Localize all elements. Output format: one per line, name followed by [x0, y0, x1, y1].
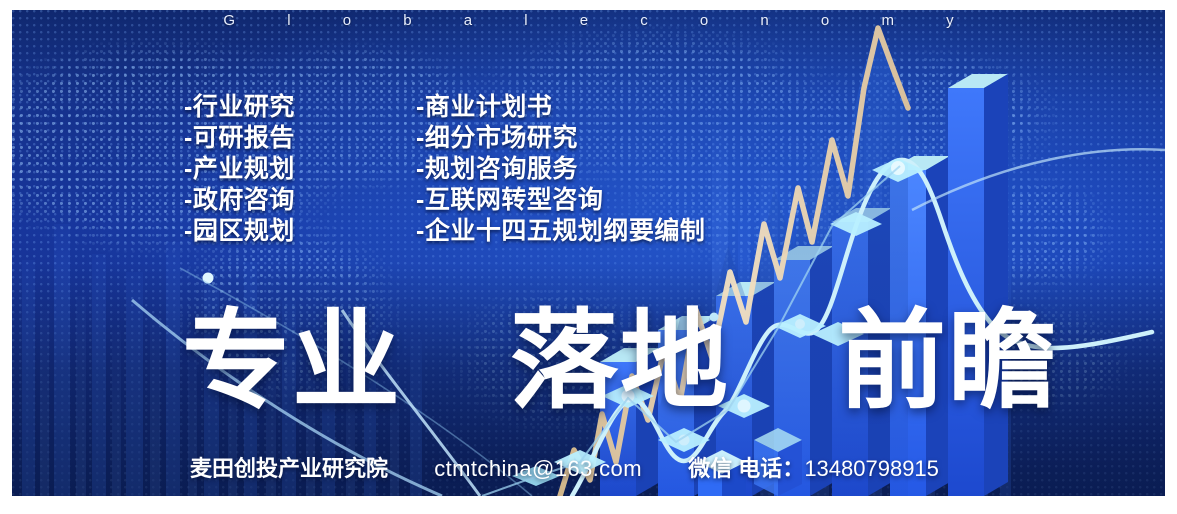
headline-word-2: 落地 [510, 300, 730, 421]
service-item: -互联网转型咨询 [416, 185, 705, 216]
service-item: -产业规划 [184, 154, 295, 185]
header-word-global-economy: G l o b a l e c o n o m y [12, 12, 1165, 29]
service-item: -政府咨询 [184, 185, 295, 216]
footer-contact-bar: 麦田创投产业研究院 ctmtchina@163.com 微信 电话：134807… [190, 451, 939, 483]
service-item: -企业十四五规划纲要编制 [416, 216, 705, 247]
service-list-left: -行业研究 -可研报告 -产业规划 -政府咨询 -园区规划 [184, 92, 295, 247]
service-item: -细分市场研究 [416, 123, 705, 154]
service-item: -可研报告 [184, 123, 295, 154]
service-item: -园区规划 [184, 216, 295, 247]
chart-graphics [12, 10, 1165, 496]
service-list-right: -商业计划书 -细分市场研究 -规划咨询服务 -互联网转型咨询 -企业十四五规划… [416, 92, 705, 247]
promo-banner: G l o b a l e c o n o m y -行业研究 -可研报告 -产… [12, 10, 1165, 496]
headline-word-3: 前瞻 [838, 300, 1058, 421]
contact-label: 微信 电话： [688, 456, 804, 481]
page-title: 专业 落地 前瞻 [182, 307, 1058, 415]
service-item: -商业计划书 [416, 92, 705, 123]
headline-word-1: 专业 [182, 300, 402, 421]
service-item: -行业研究 [184, 92, 295, 123]
company-name: 麦田创投产业研究院 [190, 456, 388, 481]
email-address[interactable]: ctmtchina@163.com [434, 456, 642, 481]
phone-number[interactable]: 13480798915 [804, 456, 939, 481]
service-item: -规划咨询服务 [416, 154, 705, 185]
